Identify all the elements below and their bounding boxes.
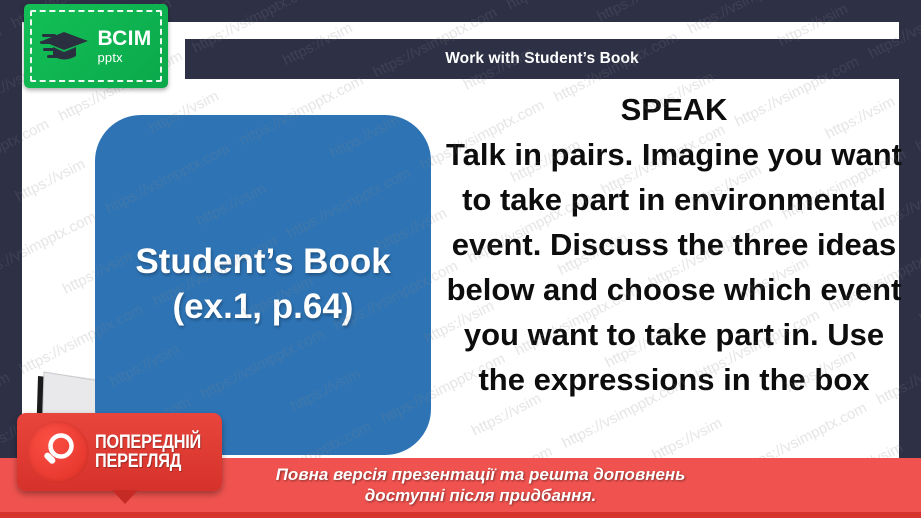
instruction-body: Talk in pairs. Imagine you want to take … [446,137,902,397]
instruction-text: SPEAK Talk in pairs. Imagine you want to… [444,88,904,403]
purchase-banner-text: Повна версія презентації та решта доповн… [276,464,686,507]
logo-suffix-text: pptx [97,51,122,64]
preview-badge-label: ПОПЕРЕДНІЙ ПЕРЕГЛЯД [95,433,201,472]
presentation-slide: Student’s Book (ex.1, p.64) SPEAK Talk i… [0,0,921,518]
students-book-card-text: Student’s Book (ex.1, p.64) [95,240,431,330]
vsimpptx-logo: ВСІМ pptx [24,4,168,88]
magnifier-icon [27,421,89,483]
preview-badge: ПОПЕРЕДНІЙ ПЕРЕГЛЯД [17,413,222,491]
students-book-card: Student’s Book (ex.1, p.64) [95,115,431,455]
graduation-cap-icon [40,24,92,68]
logo-brand-text: ВСІМ [97,28,151,49]
slide-title: Work with Student’s Book [445,50,639,68]
slide-header-bar: Work with Student’s Book [185,39,899,79]
instruction-heading: SPEAK [444,88,904,133]
